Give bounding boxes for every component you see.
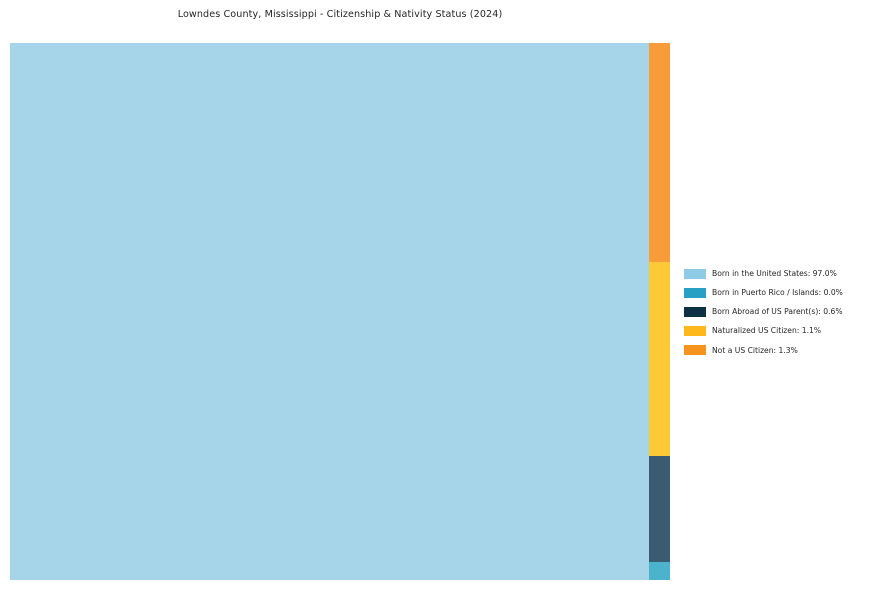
legend-item-born-in-the-united-states[interactable]: Born in the United States: 97.0% — [684, 264, 880, 283]
legend-label-born-abroad-of-us-parents: Born Abroad of US Parent(s): 0.6% — [712, 308, 843, 316]
legend-swatch-icon-naturalized-us-citizen — [684, 326, 706, 336]
legend-item-born-in-puerto-rico-islands[interactable]: Born in Puerto Rico / Islands: 0.0% — [684, 283, 880, 302]
legend-swatch-icon-born-in-puerto-rico-islands — [684, 288, 706, 298]
legend-swatch-icon-not-a-us-citizen — [684, 345, 706, 355]
legend-label-not-a-us-citizen: Not a US Citizen: 1.3% — [712, 347, 798, 355]
chart-legend: Born in the United States: 97.0% Born in… — [684, 264, 880, 360]
legend-label-born-in-the-united-states: Born in the United States: 97.0% — [712, 270, 837, 278]
legend-label-naturalized-us-citizen: Naturalized US Citizen: 1.1% — [712, 327, 821, 335]
legend-item-naturalized-us-citizen[interactable]: Naturalized US Citizen: 1.1% — [684, 322, 880, 341]
treemap-tile-born-in-the-united-states[interactable] — [10, 43, 649, 580]
treemap-plot-area — [10, 43, 670, 580]
chart-title: Lowndes County, Mississippi - Citizenshi… — [0, 9, 680, 20]
treemap-tile-naturalized-us-citizen[interactable] — [649, 262, 670, 456]
treemap-tile-born-in-puerto-rico-islands[interactable] — [649, 562, 670, 580]
treemap-tile-born-abroad-of-us-parents[interactable] — [649, 456, 670, 562]
legend-item-born-abroad-of-us-parents[interactable]: Born Abroad of US Parent(s): 0.6% — [684, 302, 880, 321]
legend-label-born-in-puerto-rico-islands: Born in Puerto Rico / Islands: 0.0% — [712, 289, 843, 297]
legend-swatch-icon-born-abroad-of-us-parents — [684, 307, 706, 317]
treemap-tile-not-a-us-citizen[interactable] — [649, 43, 670, 262]
treemap-figure: Lowndes County, Mississippi - Citizenshi… — [0, 0, 889, 590]
legend-item-not-a-us-citizen[interactable]: Not a US Citizen: 1.3% — [684, 341, 880, 360]
legend-swatch-icon-born-in-the-united-states — [684, 269, 706, 279]
